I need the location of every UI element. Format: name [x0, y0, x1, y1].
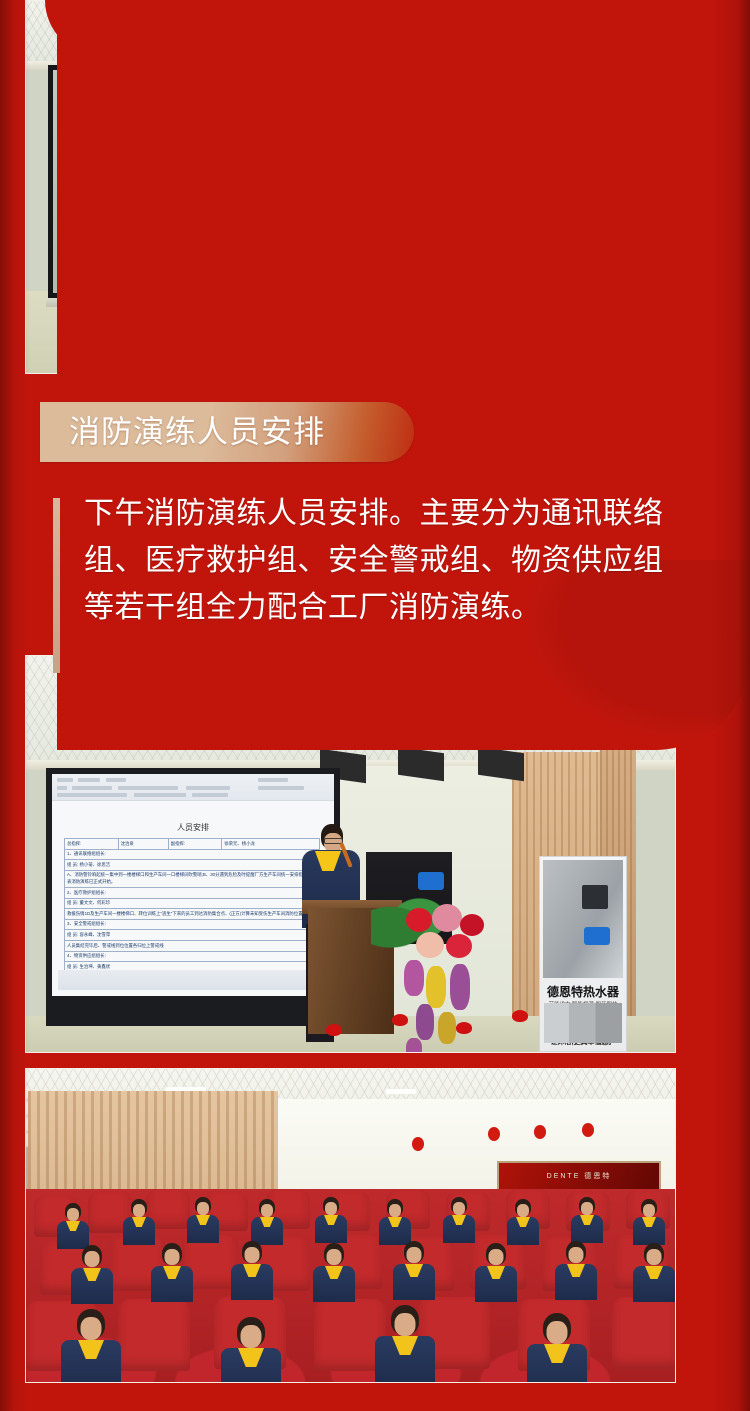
- face: [133, 1204, 145, 1217]
- toolbar-chip: [57, 786, 67, 790]
- audience-member: [70, 1245, 114, 1303]
- toolbar-chip: [192, 793, 228, 797]
- seat: [118, 1299, 190, 1371]
- red-lantern: [534, 1125, 546, 1139]
- audience-member: [506, 1199, 540, 1245]
- red-lantern: [412, 1137, 424, 1151]
- table-row: 4、物资供应组组长:: [65, 951, 320, 962]
- section-title-badge: 消防演练人员安排: [40, 402, 414, 462]
- office-ribbon: [52, 774, 334, 801]
- text-accent-bar: [53, 498, 60, 673]
- audience-member: [632, 1243, 676, 1301]
- table-row: 1、通讯联络组组长:: [65, 849, 320, 860]
- cell: 总指挥:: [65, 839, 119, 850]
- flower: [416, 932, 444, 958]
- audience-member: [150, 1243, 194, 1301]
- face: [407, 1247, 422, 1263]
- cell: 救援伤情1D及生产车间一楼楼梯口、转位训练上"逃生"下来的员工到达消防集合点、(…: [65, 909, 320, 920]
- face: [67, 1208, 79, 1221]
- cell: 3、安全警戒组组长:: [65, 919, 320, 930]
- flower: [438, 1012, 456, 1044]
- backdrop-brand: DENTE 德恩特: [499, 1171, 659, 1181]
- audience-member: [312, 1243, 356, 1301]
- photo-audience: DENTE 德恩特 励精图治 再创辉煌: [25, 1068, 676, 1383]
- table-row: A、消防警铃响起统一集中到一楼楼梯口和生产车间一口楼梯间吹警哨;B、30分遇到危…: [65, 870, 320, 887]
- red-lantern: [582, 1123, 594, 1137]
- cell: 组 员: 董文文、何彩珍: [65, 898, 320, 909]
- face: [165, 1249, 180, 1265]
- face: [547, 1321, 568, 1344]
- toolbar-chip: [134, 793, 186, 797]
- face: [81, 1317, 102, 1340]
- backdrop-badge-icon: [418, 872, 444, 890]
- table-row: 救援伤情1D及生产车间一楼楼梯口、转位训练上"逃生"下来的员工到达消防集合点、(…: [65, 909, 320, 920]
- cell: 4、物资供应组组长:: [65, 951, 320, 962]
- cell: 人员集结完毕后、警戒线到位位置各归位上警戒线: [65, 941, 320, 952]
- audience-member: [526, 1313, 588, 1383]
- audience-member: [554, 1241, 598, 1299]
- toolbar-chip: [57, 778, 73, 782]
- face: [643, 1204, 655, 1217]
- face: [245, 1247, 260, 1263]
- banner-badge-icon: [584, 927, 610, 945]
- face: [327, 1249, 342, 1265]
- toolbar-chip: [72, 786, 112, 790]
- ceiling-light: [386, 1089, 416, 1094]
- audience-member: [570, 1197, 604, 1243]
- flower: [406, 908, 432, 932]
- personnel-table: 总指挥: 沈治泉 副指挥: 徐荣元、杨小龙 1、通讯联络组组长: 组 员: 杨小…: [64, 838, 320, 973]
- table-row: 组 员: 容永峰、沈雪萍: [65, 930, 320, 941]
- toolbar-chip: [118, 786, 178, 790]
- audience-member: [442, 1197, 476, 1243]
- flower: [460, 914, 484, 936]
- face: [241, 1325, 262, 1348]
- anthurium-flower: [456, 1022, 472, 1034]
- toolbar-chip: [106, 778, 126, 782]
- cell: 沈治泉: [118, 839, 168, 850]
- flower: [406, 1038, 422, 1053]
- audience-member: [378, 1199, 412, 1245]
- water-heater-unit: [582, 885, 608, 909]
- seat: [612, 1297, 676, 1369]
- face: [389, 1204, 401, 1217]
- flower: [432, 904, 462, 932]
- rollup-banner: 德恩特热水器 节能省电 智能恒温 即开即热 水电隔绝 不结水垢 超大水流 让沐浴…: [539, 856, 627, 1052]
- red-banner-middle: [57, 0, 750, 750]
- audience-member: [314, 1197, 348, 1243]
- cell: 2、医疗救护组组长:: [65, 888, 320, 899]
- banner-thumbnail-row: [544, 1003, 622, 1043]
- section-body-text: 下午消防演练人员安排。主要分为通讯联络组、医疗救护组、安全警戒组、物资供应组等若…: [84, 490, 692, 631]
- anthurium-flower: [326, 1024, 342, 1036]
- document-title: 人员安排: [52, 822, 334, 833]
- face: [85, 1251, 100, 1267]
- audience-member: [474, 1243, 518, 1301]
- table-row: 人员集结完毕后、警戒线到位位置各归位上警戒线: [65, 941, 320, 952]
- face: [261, 1204, 273, 1217]
- audience-member: [392, 1241, 436, 1299]
- table-row: 3、安全警戒组组长:: [65, 919, 320, 930]
- toolbar-chip: [57, 793, 127, 797]
- red-lantern: [488, 1127, 500, 1141]
- face: [453, 1202, 465, 1215]
- face: [395, 1313, 416, 1336]
- table-row: 总指挥: 沈治泉 副指挥: 徐荣元、杨小龙: [65, 839, 320, 850]
- audience-seating: [26, 1189, 675, 1382]
- audience-member: [374, 1305, 436, 1383]
- flower: [416, 1004, 434, 1040]
- table-row: 组 员: 董文文、何彩珍: [65, 898, 320, 909]
- face: [489, 1249, 504, 1265]
- toolbar-chip: [186, 786, 230, 790]
- cell: 副指挥:: [168, 839, 222, 850]
- audience-member: [122, 1199, 156, 1245]
- face: [581, 1202, 593, 1215]
- cell: 徐荣元、杨小龙: [222, 839, 320, 850]
- audience-member: [230, 1241, 274, 1299]
- flower: [404, 960, 424, 996]
- face: [325, 1202, 337, 1215]
- face: [517, 1204, 529, 1217]
- anthurium-flower: [392, 1014, 408, 1026]
- section-title-text: 消防演练人员安排: [69, 417, 325, 448]
- audience-member: [186, 1197, 220, 1243]
- face: [197, 1202, 209, 1215]
- audience-member: [220, 1317, 282, 1383]
- audience-member: [56, 1203, 90, 1249]
- toolbar-chip: [78, 778, 100, 782]
- audience-member: [632, 1199, 666, 1245]
- face: [569, 1247, 584, 1263]
- audience-member: [60, 1309, 122, 1383]
- banner-headline: 德恩特热水器: [540, 983, 626, 1000]
- audience-member: [250, 1199, 284, 1245]
- face: [647, 1249, 662, 1265]
- flower: [450, 964, 470, 1010]
- toolbar-chip: [258, 786, 304, 790]
- windows-taskbar: [58, 970, 328, 990]
- document-on-screen: 人员安排 总指挥: 沈治泉 副指挥: 徐荣元、杨小龙 1、通讯联络组组长: 组 …: [52, 774, 334, 996]
- banner-product-photo: [543, 860, 623, 978]
- anthurium-flower: [512, 1010, 528, 1022]
- cell: 组 员: 容永峰、沈雪萍: [65, 930, 320, 941]
- poster-page: 2022 安全生产培训会议 2022-04 四楼多功能厅 DENTE 德恩特: [0, 0, 750, 1411]
- flower: [426, 966, 446, 1008]
- table-row: 2、医疗救护组组长:: [65, 888, 320, 899]
- table-row: 组 员: 杨小菊、徐思洁: [65, 860, 320, 871]
- flower: [446, 934, 472, 958]
- flower-bouquet: [398, 904, 502, 1053]
- cell: 1、通讯联络组组长:: [65, 849, 320, 860]
- projector-screen: 人员安排 总指挥: 沈治泉 副指挥: 徐荣元、杨小龙 1、通讯联络组组长: 组 …: [46, 768, 340, 1026]
- toolbar-chip: [258, 778, 288, 782]
- cell: A、消防警铃响起统一集中到一楼楼梯口和生产车间一口楼梯间吹警哨;B、30分遇到危…: [65, 870, 320, 887]
- cell: 组 员: 杨小菊、徐思洁: [65, 860, 320, 871]
